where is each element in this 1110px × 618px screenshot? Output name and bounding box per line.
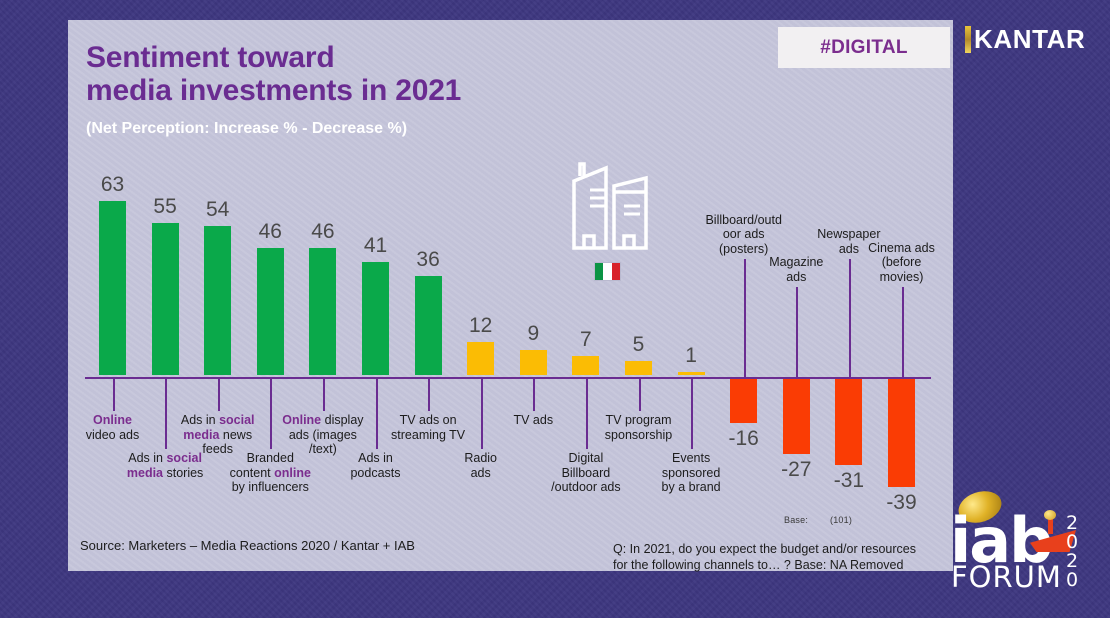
bar (152, 223, 179, 375)
bar (835, 379, 862, 465)
category-label: Brandedcontent onlineby influencers (217, 451, 323, 495)
category-label-line: Events (638, 451, 744, 466)
base-label: Base: (784, 515, 808, 525)
category-label-line: Ads in social (165, 413, 271, 428)
leader-line (428, 379, 430, 411)
category-label-line: Magazine (743, 255, 849, 270)
category-label-line: oor ads (691, 227, 797, 242)
bar (625, 361, 652, 375)
category-label-line: Online (60, 413, 166, 428)
category-label-line: Newspaper (796, 227, 902, 242)
bar (204, 226, 231, 375)
bar (730, 379, 757, 423)
category-label-line: Billboard (533, 466, 639, 481)
category-label: Cinema ads(beforemovies) (849, 241, 955, 285)
digital-badge: #DIGITAL (778, 27, 950, 68)
category-label-line: /outdoor ads (533, 480, 639, 495)
iab-year-digit: 0 (1066, 571, 1078, 590)
category-label-line: sponsorship (586, 428, 692, 443)
category-label-line: media stories (112, 466, 218, 481)
category-label-line: Online display (270, 413, 376, 428)
category-label-line: sponsored (638, 466, 744, 481)
category-label: TV ads (480, 413, 586, 428)
iab-year: 2020 (1066, 514, 1078, 590)
category-label-line: TV ads on (375, 413, 481, 428)
source-note: Source: Marketers – Media Reactions 2020… (80, 538, 415, 553)
category-label-line: TV ads (480, 413, 586, 428)
category-label-line: content online (217, 466, 323, 481)
category-label-line: (before (849, 255, 955, 270)
leader-line (323, 379, 325, 411)
question-line-1: Q: In 2021, do you expect the budget and… (613, 541, 916, 557)
category-label-line: ads (743, 270, 849, 285)
category-label-line: Digital (533, 451, 639, 466)
leader-line (902, 287, 904, 377)
category-label: TV programsponsorship (586, 413, 692, 442)
category-label-line: streaming TV (375, 428, 481, 443)
bar-value-label: -39 (867, 491, 937, 515)
category-label-line: ads (428, 466, 534, 481)
category-label: Ads in socialmedia newsfeeds (165, 413, 271, 457)
category-label: Magazineads (743, 255, 849, 284)
category-label: Radioads (428, 451, 534, 480)
iab-forum-logo: iab FORUM 2020 (948, 492, 1098, 610)
leader-line (533, 379, 535, 411)
category-label: TV ads onstreaming TV (375, 413, 481, 442)
bar (572, 356, 599, 375)
category-label-line: media news (165, 428, 271, 443)
question-note: Q: In 2021, do you expect the budget and… (613, 541, 916, 573)
category-label-line: Radio (428, 451, 534, 466)
bar (678, 372, 705, 375)
axis-tick (768, 377, 825, 379)
iab-knob-icon (1044, 510, 1056, 520)
category-label-line: Ads in (323, 451, 429, 466)
bar (467, 342, 494, 375)
bar (783, 379, 810, 454)
category-label: Ads inpodcasts (323, 451, 429, 480)
bar-chart: 63Onlinevideo ads55Ads in socialmedia st… (68, 20, 953, 571)
base-value: (101) (830, 515, 852, 525)
base-row: Base:(101) (784, 515, 874, 525)
category-label-line: Cinema ads (849, 241, 955, 256)
leader-line (796, 287, 798, 377)
bar (309, 248, 336, 375)
bar (520, 350, 547, 375)
axis-tick (874, 377, 931, 379)
leader-line (691, 379, 693, 449)
bar-value-label: 63 (78, 173, 148, 197)
iab-forum-word: FORUM (951, 560, 1062, 594)
bar (99, 201, 126, 375)
category-label: Billboard/outdoor ads(posters) (691, 213, 797, 257)
category-label: Onlinevideo ads (60, 413, 166, 442)
leader-line (113, 379, 115, 411)
category-label-line: by influencers (217, 480, 323, 495)
category-label: DigitalBillboard/outdoor ads (533, 451, 639, 495)
bar-value-label: -16 (709, 427, 779, 451)
leader-line (639, 379, 641, 411)
category-label: Online displayads (images/text) (270, 413, 376, 457)
bar (257, 248, 284, 375)
category-label-line: (posters) (691, 242, 797, 257)
bar (415, 276, 442, 375)
question-line-2: for the following channels to… ? Base: N… (613, 557, 916, 573)
category-label-line: by a brand (638, 480, 744, 495)
category-label-line: ads (images (270, 428, 376, 443)
bar-value-label: 36 (393, 248, 463, 272)
kantar-wordmark: KANTAR (974, 24, 1085, 55)
kantar-logo: KANTAR (965, 24, 1085, 55)
bar-value-label: 1 (656, 344, 726, 368)
bar (362, 262, 389, 375)
category-label-line: podcasts (323, 466, 429, 481)
category-label-line: TV program (586, 413, 692, 428)
category-label-line: video ads (60, 428, 166, 443)
category-label-line: Billboard/outd (691, 213, 797, 228)
category-label-line: movies) (849, 270, 955, 285)
bar-value-label: -31 (814, 469, 884, 493)
slide-panel: Sentiment toward media investments in 20… (68, 20, 953, 571)
kantar-bar-icon (965, 26, 971, 53)
bar-value-label: 54 (183, 198, 253, 222)
axis-tick (716, 377, 773, 379)
bar (888, 379, 915, 487)
leader-line (218, 379, 220, 411)
category-label: Eventssponsoredby a brand (638, 451, 744, 495)
axis-tick (821, 377, 878, 379)
